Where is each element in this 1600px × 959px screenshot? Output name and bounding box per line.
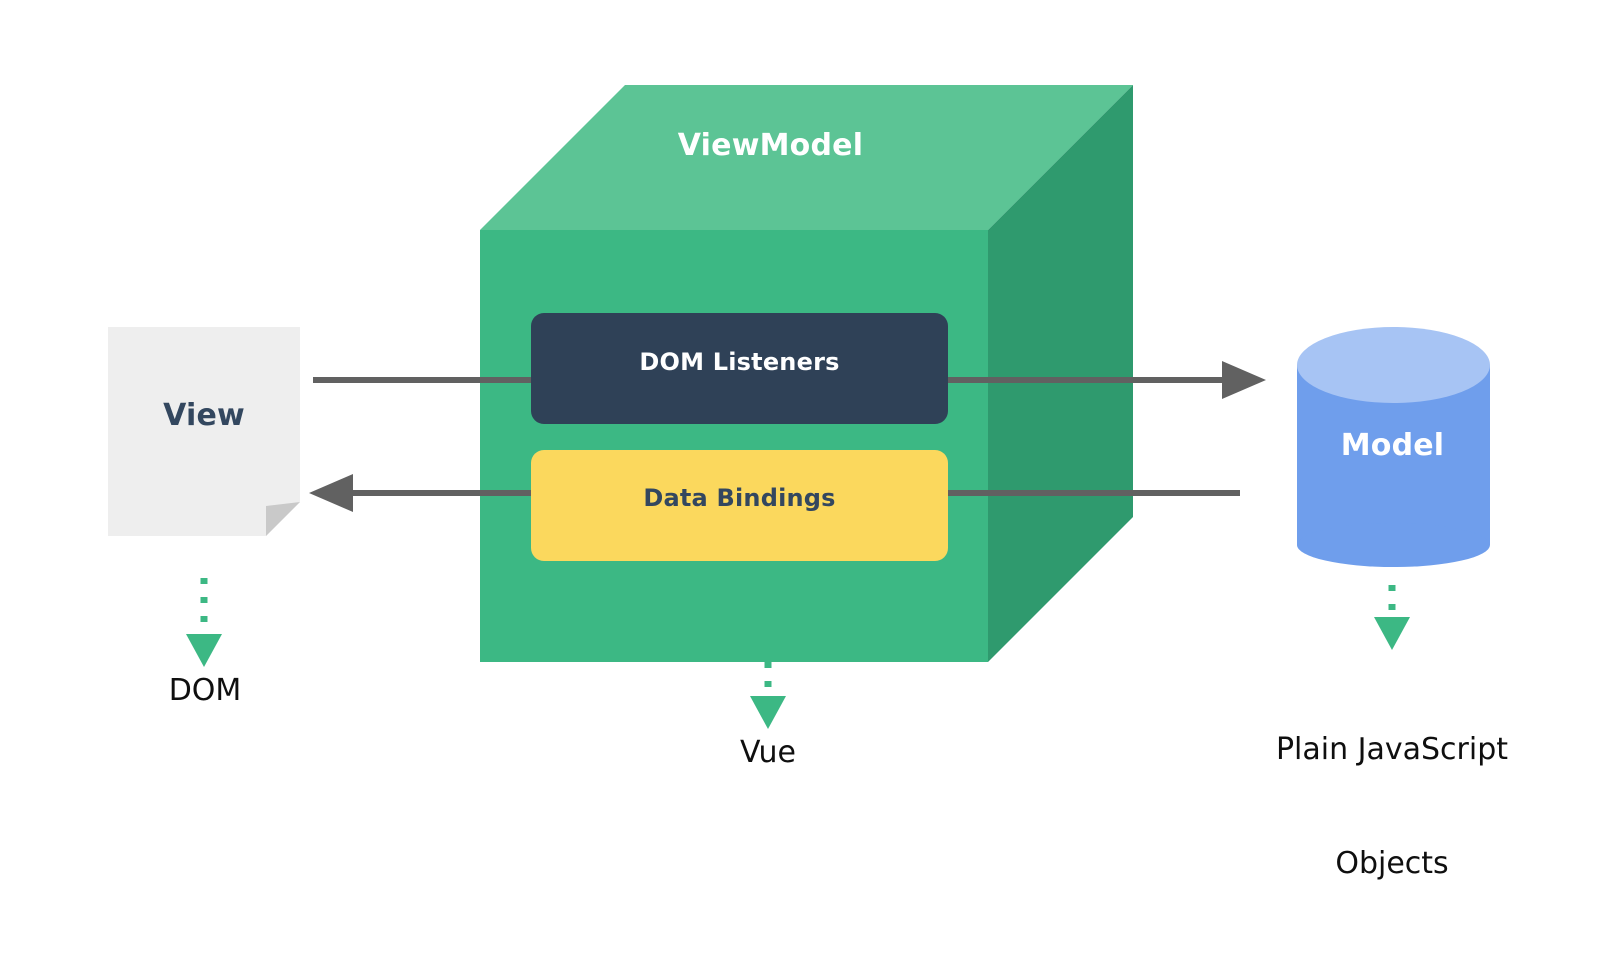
arrowhead-left — [309, 474, 353, 512]
data-bindings-box[interactable] — [531, 450, 948, 561]
pjso-annotation-arrow — [1374, 585, 1410, 650]
model-cylinder[interactable] — [1297, 327, 1490, 567]
cylinder-bottom-ellipse — [1297, 523, 1490, 567]
pjso-line-2: Objects — [1192, 845, 1592, 883]
view-document-body — [108, 327, 300, 536]
dom-arrowhead-down — [186, 634, 222, 667]
cube-front-face — [480, 230, 988, 662]
diagram-canvas: View ViewModel Model DOM Listeners Data … — [0, 0, 1600, 850]
dom-listeners-box[interactable] — [531, 313, 948, 424]
vue-arrowhead-down — [750, 696, 786, 729]
pjso-arrowhead-down — [1374, 617, 1410, 650]
arrowhead-right — [1222, 361, 1266, 399]
view-document-fold — [266, 502, 300, 536]
vue-annotation-arrow — [750, 662, 786, 729]
cylinder-top-ellipse — [1297, 327, 1490, 403]
view-node[interactable] — [108, 327, 300, 536]
diagram-svg — [0, 0, 1600, 850]
dom-annotation-arrow — [186, 578, 222, 667]
